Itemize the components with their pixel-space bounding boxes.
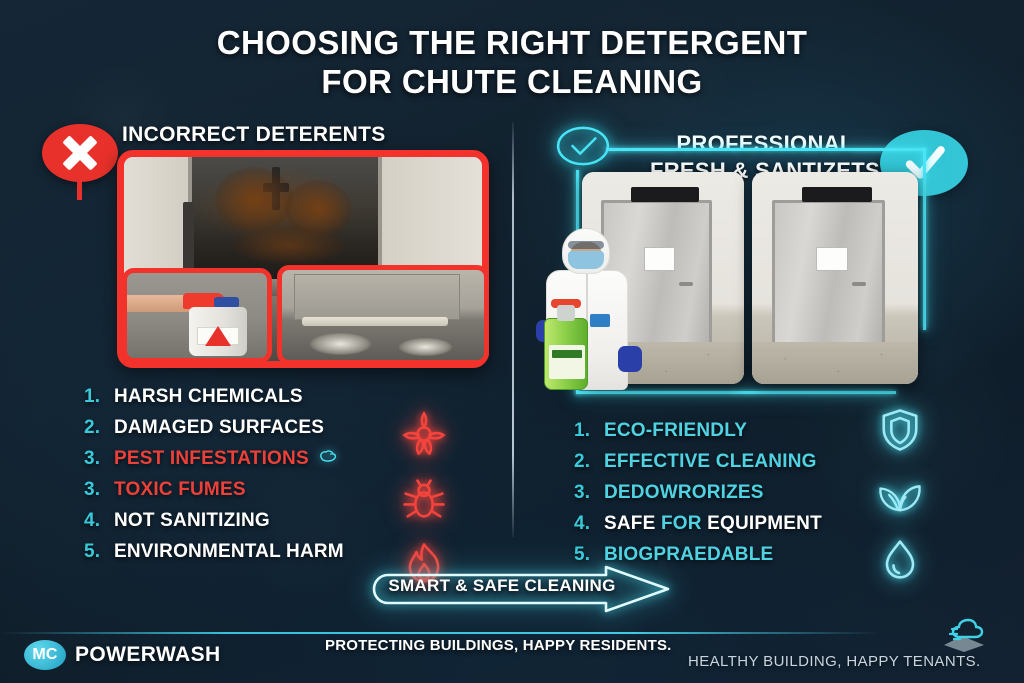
list-item-part-safe: SAFE xyxy=(604,513,661,534)
inset-residue xyxy=(302,317,447,326)
floor-spill xyxy=(399,338,452,356)
x-mark-icon xyxy=(42,124,118,182)
pest-icon xyxy=(318,448,338,470)
bottle-label xyxy=(197,327,239,346)
biohazard-icon xyxy=(398,408,450,465)
face-mask xyxy=(568,251,604,269)
list-item-label: BIOGPRAEDABLE xyxy=(604,544,773,566)
list-item-label: TOXIC FUMES xyxy=(114,479,246,501)
professional-benefits-list: 1. ECO-FRIENDLY 2. EFFECTIVE CLEANING 3.… xyxy=(574,420,904,575)
list-item: 5. BIOGPRAEDABLE xyxy=(574,544,904,566)
list-item-label: PEST INFESTATIONS xyxy=(114,448,309,470)
bug-icon xyxy=(398,473,450,530)
page-title: CHOOSING THE RIGHT DETERGENT FOR CHUTE C… xyxy=(0,24,1024,102)
safety-goggles xyxy=(568,241,604,249)
floor-spill xyxy=(310,333,371,355)
right-heading-line-1: PROFESSIONAL xyxy=(676,131,853,156)
coverall-logo-patch xyxy=(590,314,610,327)
leaves-icon xyxy=(874,469,926,526)
clean-floor xyxy=(752,342,918,384)
list-item-number: 1. xyxy=(574,420,596,442)
door-sign xyxy=(802,187,872,202)
list-item-label: DEDOWRORIZES xyxy=(604,482,764,504)
list-item: 2. EFFECTIVE CLEANING xyxy=(574,451,904,473)
eco-cleaner-spray-bottle xyxy=(544,318,588,390)
x-badge-stem xyxy=(77,178,82,200)
neon-frame-bottom xyxy=(576,391,896,394)
bottle-neck xyxy=(557,305,575,321)
dirty-floor-inset-photo xyxy=(277,265,489,365)
hazard-warning-icon xyxy=(205,326,231,346)
list-item-label: NOT SANITIZING xyxy=(114,510,270,532)
bottle-label-text xyxy=(552,350,582,358)
door-handle xyxy=(852,282,866,286)
door-handle xyxy=(679,282,693,286)
list-item-number: 4. xyxy=(574,513,596,535)
door-placard xyxy=(816,247,848,272)
list-item: 2. DAMAGED SURFACES xyxy=(84,417,414,439)
brand-logo: MC POWERWASH xyxy=(24,640,221,670)
list-item: 5. ENVIRONMENTAL HARM xyxy=(84,541,414,563)
door-sign xyxy=(631,187,699,202)
list-item: 4. SAFE FOR EQUIPMENT xyxy=(574,513,904,535)
left-section-heading: INCORRECT DETERENTS xyxy=(122,123,386,147)
banner-label: SMART & SAFE CLEANING xyxy=(366,576,638,596)
list-item-part-equipment: EQUIPMENT xyxy=(707,513,822,534)
chemical-bottle xyxy=(189,307,248,356)
list-item-number: 5. xyxy=(574,544,596,566)
logo-wordmark: POWERWASH xyxy=(75,643,221,667)
grime-stain xyxy=(233,227,344,265)
list-item-label: DAMAGED SURFACES xyxy=(114,417,324,439)
center-divider xyxy=(512,122,514,537)
list-item: 4. NOT SANITIZING xyxy=(84,510,414,532)
title-line-2: FOR CHUTE CLEANING xyxy=(0,63,1024,102)
list-item-label: ENVIRONMENTAL HARM xyxy=(114,541,344,563)
grime-stain xyxy=(215,167,293,233)
clean-chute-door-photo-2 xyxy=(752,172,918,384)
list-item-label: EFFECTIVE CLEANING xyxy=(604,451,817,473)
positive-icon-column xyxy=(874,404,926,591)
list-item-number: 3. xyxy=(84,448,106,470)
door-placard xyxy=(644,247,675,272)
bottle-label xyxy=(549,345,585,379)
shield-icon xyxy=(874,404,926,461)
footer-tagline-sub: HEALTHY BUILDING, HAPPY TENANTS. xyxy=(688,653,981,670)
blue-glove-right xyxy=(618,346,642,372)
water-drop-icon xyxy=(874,534,926,591)
list-item-label: SAFE FOR EQUIPMENT xyxy=(604,513,822,535)
list-item-number: 2. xyxy=(84,417,106,439)
chute-control-panel xyxy=(183,202,194,272)
clean-room-2 xyxy=(752,172,918,384)
list-item-number: 3. xyxy=(84,479,106,501)
list-item-part-for: FOR xyxy=(661,513,707,534)
list-item-number: 1. xyxy=(84,386,106,408)
list-item: 3. PEST INFESTATIONS xyxy=(84,448,414,470)
cloud-wave-icon xyxy=(938,615,990,653)
list-item-number: 2. xyxy=(574,451,596,473)
list-item-label: ECO-FRIENDLY xyxy=(604,420,747,442)
list-item: 3. DEDOWRORIZES xyxy=(574,482,904,504)
footer-tagline-main: PROTECTING BUILDINGS, HAPPY RESIDENTS. xyxy=(325,637,672,654)
list-item-number: 3. xyxy=(574,482,596,504)
logo-mark: MC xyxy=(24,640,66,670)
incorrect-deterrents-list: 1. HARSH CHEMICALS 2. DAMAGED SURFACES 3… xyxy=(84,386,414,572)
list-item-label: HARSH CHEMICALS xyxy=(114,386,303,408)
list-item-number: 5. xyxy=(84,541,106,563)
inset-chute-door xyxy=(294,274,460,321)
harsh-chemical-spray-inset-photo xyxy=(122,268,272,363)
infographic-canvas: CHOOSING THE RIGHT DETERGENT FOR CHUTE C… xyxy=(0,0,1024,683)
title-line-1: CHOOSING THE RIGHT DETERGENT xyxy=(217,24,808,61)
list-item-number: 4. xyxy=(84,510,106,532)
footer-divider xyxy=(0,632,1024,634)
list-item: 1. ECO-FRIENDLY xyxy=(574,420,904,442)
list-item: 3. TOXIC FUMES xyxy=(84,479,414,501)
list-item: 1. HARSH CHEMICALS xyxy=(84,386,414,408)
stainless-chute-door xyxy=(772,200,885,353)
